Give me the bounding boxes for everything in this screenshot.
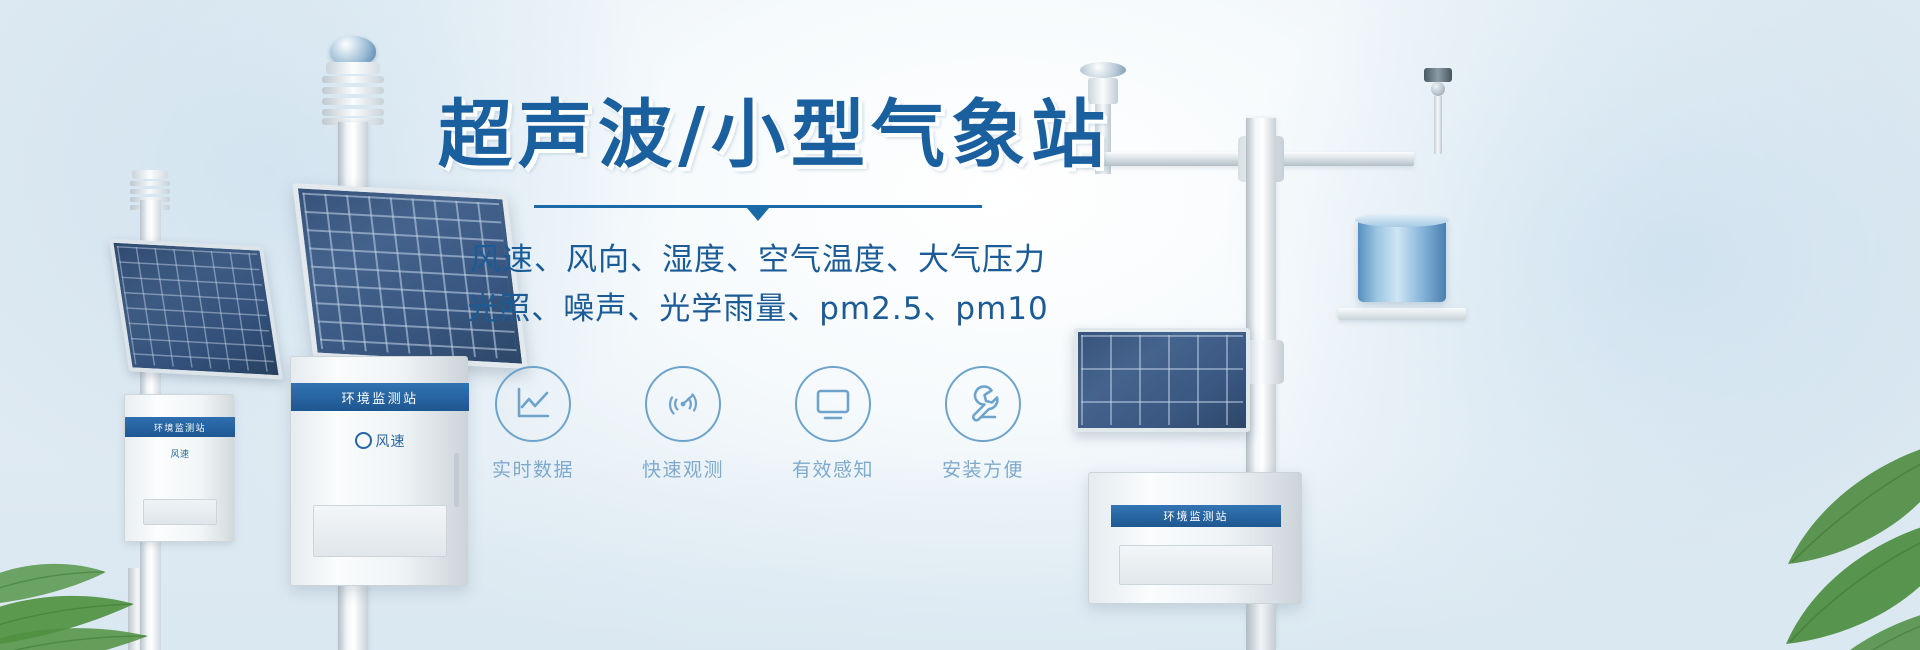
feature-item-effective-sensing[interactable]: 有效感知	[781, 366, 885, 482]
wind-vane-stem	[1434, 96, 1442, 154]
decorative-leaf-right	[1610, 400, 1920, 650]
page-title: 超声波/小型气象站	[438, 96, 1078, 174]
radar-signal-icon	[662, 383, 704, 425]
solar-panel-right	[1074, 328, 1250, 432]
banner-content: 超声波/小型气象站 风速、风向、湿度、空气温度、大气压力 光照、噪声、光学雨量、…	[438, 96, 1078, 482]
line-chart-icon	[512, 384, 554, 424]
control-cabinet-right: 环境监测站	[1088, 472, 1302, 604]
rain-gauge-body	[1358, 218, 1446, 302]
divider	[534, 202, 982, 218]
cabinet-brand-logo: 风速	[125, 447, 235, 460]
sensor-fin	[322, 98, 384, 105]
cabinet-label-text: 环境监测站	[154, 421, 206, 434]
feature-icon-circle	[945, 366, 1021, 442]
feature-icon-circle	[645, 366, 721, 442]
ultrasonic-head-icon	[1080, 62, 1126, 78]
divider-triangle-icon	[747, 208, 769, 221]
cabinet-door-panel	[313, 505, 447, 557]
mast-base	[1246, 604, 1276, 650]
sensor-fin	[130, 181, 170, 186]
feature-list: 实时数据 快速观测	[438, 366, 1078, 482]
cabinet-door-panel	[1119, 545, 1273, 585]
weather-station-right: 环境监测站	[1060, 40, 1480, 650]
feature-label: 有效感知	[781, 455, 885, 482]
feature-item-fast-observation[interactable]: 快速观测	[631, 366, 735, 482]
monitor-screen-icon	[812, 386, 854, 422]
feature-label: 快速观测	[631, 455, 735, 482]
wind-vane-blade-icon	[1424, 68, 1452, 82]
product-banner: 环境监测站 风速 环境监测站 风速	[0, 0, 1920, 650]
feature-icon-circle	[795, 366, 871, 442]
solar-cell-grid	[117, 246, 275, 372]
subtitle-block: 风速、风向、湿度、空气温度、大气压力 光照、噪声、光学雨量、pm2.5、pm10	[438, 236, 1078, 334]
weather-sensor-shield-large	[316, 62, 390, 124]
cabinet-label-band: 环境监测站	[125, 417, 235, 437]
cabinet-label-band: 环境监测站	[1111, 505, 1281, 527]
wind-vane-sensor	[1418, 68, 1458, 154]
sensor-cap-icon	[132, 170, 168, 179]
wind-vane-hub	[1431, 82, 1445, 96]
sensor-cap-icon	[326, 62, 380, 74]
sensor-fin	[322, 76, 384, 83]
cabinet-label-text: 环境监测站	[1164, 508, 1229, 524]
feature-item-realtime-data[interactable]: 实时数据	[481, 366, 585, 482]
cabinet-label-text: 环境监测站	[341, 388, 418, 407]
feature-item-easy-installation[interactable]: 安装方便	[931, 366, 1035, 482]
decorative-leaf-left	[0, 476, 226, 650]
wrench-icon	[962, 384, 1004, 424]
sensor-fin	[322, 109, 384, 116]
subtitle-line-2: 光照、噪声、光学雨量、pm2.5、pm10	[438, 285, 1078, 334]
sensor-fin	[322, 87, 384, 94]
feature-label: 实时数据	[481, 455, 585, 482]
rain-gauge-sensor	[1358, 218, 1446, 314]
subtitle-line-1: 风速、风向、湿度、空气温度、大气压力	[438, 236, 1078, 285]
rain-gauge-funnel-icon	[1355, 213, 1449, 227]
solar-cell-grid	[1081, 335, 1243, 425]
feature-label: 安装方便	[931, 455, 1035, 482]
sensor-fin	[130, 189, 170, 194]
brand-name-text: 风速	[376, 434, 406, 450]
brand-mark-icon	[355, 432, 372, 449]
solar-panel-small	[109, 238, 283, 379]
feature-icon-circle	[495, 366, 571, 442]
